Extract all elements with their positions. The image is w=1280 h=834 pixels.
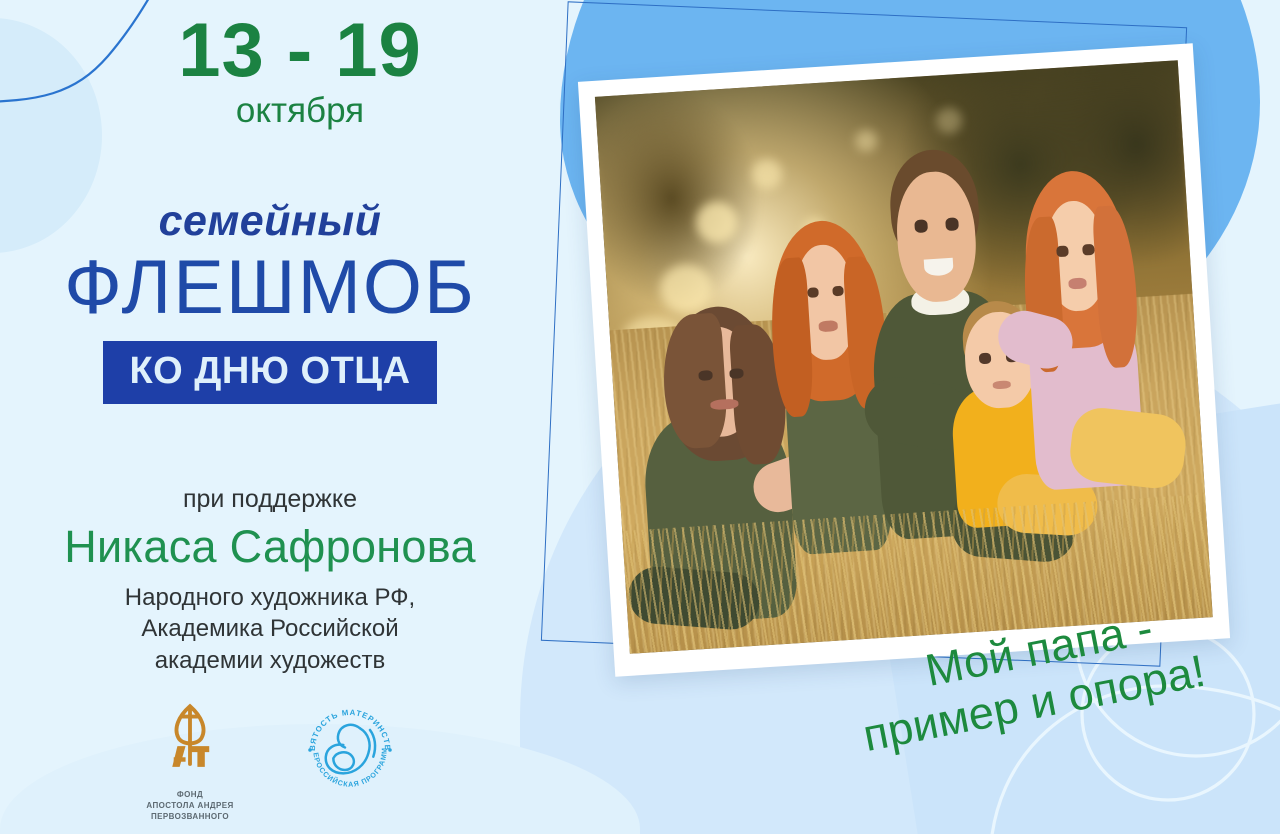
logo-faap-caption-line-1: ФОНД xyxy=(130,790,250,801)
date-range: 13 - 19 xyxy=(150,14,450,88)
support-description-line-2: Академика Российской xyxy=(0,613,540,645)
logo-svyatost-materinstva: СВЯТОСТЬ МАТЕРИНСТВА ВСЕРОССИЙСКАЯ ПРОГР… xyxy=(300,700,405,805)
logo-faap-caption-line-3: ПЕРВОЗВАННОГО xyxy=(130,812,250,823)
logo-faap-caption-line-2: АПОСТОЛА АНДРЕЯ xyxy=(130,801,250,812)
date-block: 13 - 19 октября xyxy=(150,14,450,131)
poster-root: 13 - 19 октября семейный ФЛЕШМОБ КО ДНЮ … xyxy=(0,0,1280,834)
logo-row: ФОНД АПОСТОЛА АНДРЕЯ ПЕРВОЗВАННОГО СВЯ xyxy=(130,700,430,822)
family-photo-block xyxy=(596,62,1240,682)
mother-and-child-circle-icon: СВЯТОСТЬ МАТЕРИНСТВА ВСЕРОССИЙСКАЯ ПРОГР… xyxy=(300,700,400,800)
title-block: семейный ФЛЕШМОБ КО ДНЮ ОТЦА xyxy=(0,200,540,404)
date-month: октября xyxy=(150,92,450,131)
photo-card xyxy=(578,43,1230,677)
support-description-line-3: академии художеств xyxy=(0,645,540,677)
logo-faap-caption: ФОНД АПОСТОЛА АНДРЕЯ ПЕРВОЗВАННОГО xyxy=(130,790,250,822)
support-prefix: при поддержке xyxy=(0,484,540,514)
title-main: ФЛЕШМОБ xyxy=(0,247,540,329)
support-description-line-1: Народного художника РФ, xyxy=(0,582,540,614)
family-photo xyxy=(595,60,1213,654)
support-description: Народного художника РФ, Академика Россий… xyxy=(0,582,540,677)
logo-fond-apostola-andreya: ФОНД АПОСТОЛА АНДРЕЯ ПЕРВОЗВАННОГО xyxy=(130,700,250,822)
photo-scene xyxy=(595,60,1213,654)
support-block: при поддержке Никаса Сафронова Народного… xyxy=(0,484,540,677)
person-girl-younger xyxy=(998,173,1184,551)
support-name: Никаса Сафронова xyxy=(0,521,540,573)
orthodox-dome-monogram-icon xyxy=(153,700,227,782)
title-badge: КО ДНЮ ОТЦА xyxy=(103,341,436,404)
title-eyebrow: семейный xyxy=(0,200,540,243)
